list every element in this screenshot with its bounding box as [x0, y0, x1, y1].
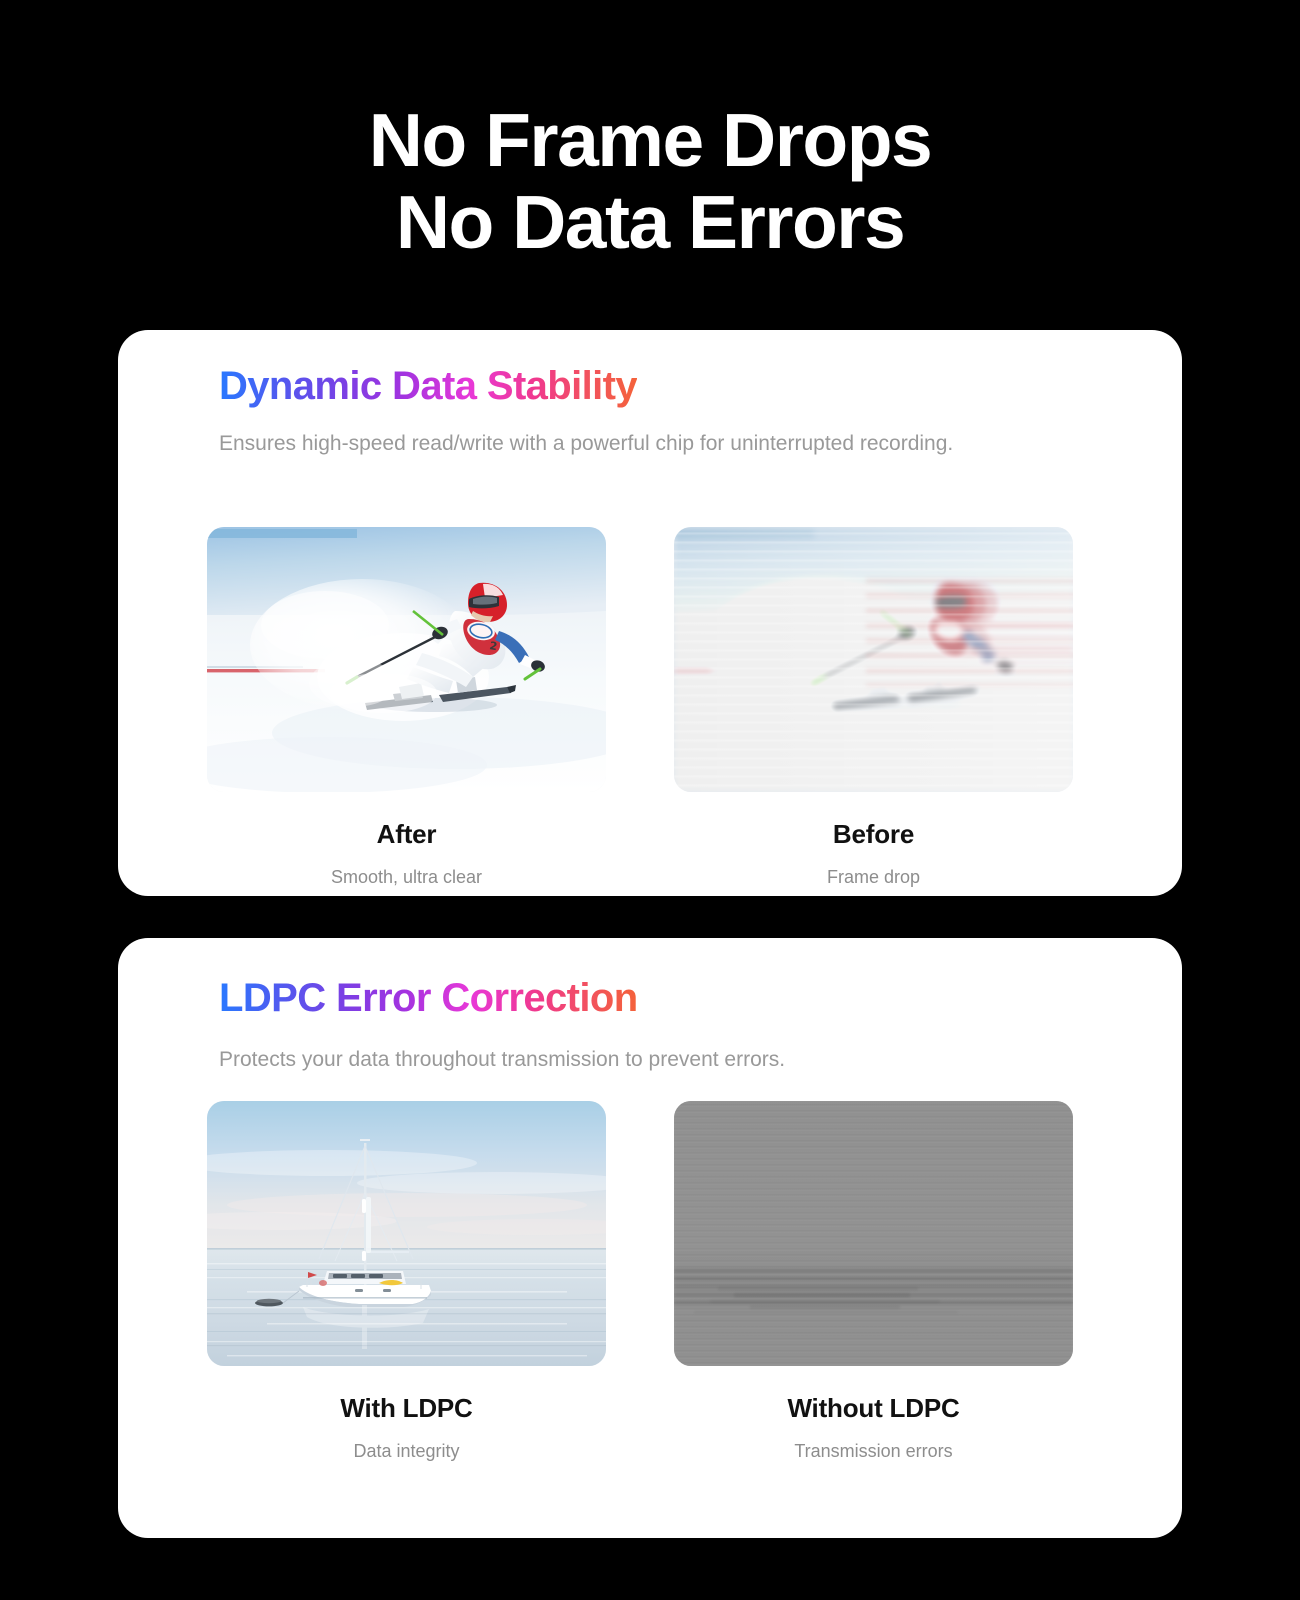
headline-line-2: No Data Errors	[0, 186, 1300, 260]
card-2-heading: LDPC Error Correction	[219, 976, 638, 1021]
comparison-item-with-ldpc: With LDPC Data integrity	[207, 1101, 606, 1462]
card-1-heading: Dynamic Data Stability	[219, 364, 637, 409]
sailboat-corrupted-gray-photo	[674, 1101, 1073, 1366]
sailboat-clear-photo	[207, 1101, 606, 1366]
caption-subtitle-before: Frame drop	[674, 867, 1073, 888]
page-headline: No Frame Drops No Data Errors	[0, 104, 1300, 259]
feature-card-ldpc-error-correction: LDPC Error Correction Protects your data…	[118, 938, 1182, 1538]
comparison-item-before: Before Frame drop	[674, 527, 1073, 888]
skier-sharp-photo: 2	[207, 527, 606, 792]
caption-title-with-ldpc: With LDPC	[207, 1393, 606, 1424]
comparison-item-without-ldpc: Without LDPC Transmission errors	[674, 1101, 1073, 1462]
card-2-description: Protects your data throughout transmissi…	[219, 1043, 1049, 1077]
card-1-comparison: 2	[207, 527, 1073, 888]
caption-title-without-ldpc: Without LDPC	[674, 1393, 1073, 1424]
caption-subtitle-with-ldpc: Data integrity	[207, 1441, 606, 1462]
headline-line-1: No Frame Drops	[369, 98, 931, 182]
caption-title-before: Before	[674, 819, 1073, 850]
caption-subtitle-without-ldpc: Transmission errors	[674, 1441, 1073, 1462]
caption-title-after: After	[207, 819, 606, 850]
caption-subtitle-after: Smooth, ultra clear	[207, 867, 606, 888]
feature-card-dynamic-data-stability: Dynamic Data Stability Ensures high-spee…	[118, 330, 1182, 896]
card-2-comparison: With LDPC Data integrity	[207, 1101, 1073, 1462]
marketing-page: No Frame Drops No Data Errors Dynamic Da…	[0, 0, 1300, 1600]
comparison-item-after: 2	[207, 527, 606, 888]
skier-motion-blurred-photo	[674, 527, 1073, 792]
card-1-description: Ensures high-speed read/write with a pow…	[219, 427, 1049, 461]
